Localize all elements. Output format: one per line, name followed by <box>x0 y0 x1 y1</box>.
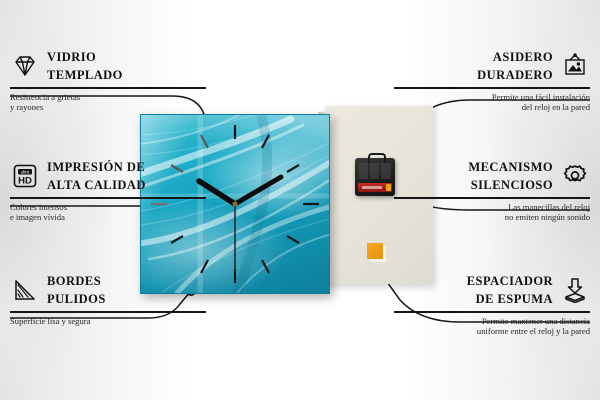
feature-title: VIDRIO TEMPLADO <box>47 48 123 84</box>
feature-description: Colores intensos e imagen vívida <box>10 202 206 223</box>
feature-rule <box>10 87 206 89</box>
svg-text:HD: HD <box>18 175 32 186</box>
feature-description: Superficie lisa y segura <box>10 316 206 327</box>
feature-description: Las manecillas del reloj no emiten ningú… <box>394 202 590 223</box>
feature-title: MECANISMO SILENCIOSO <box>468 158 553 194</box>
diamond-icon <box>10 51 40 81</box>
foam-spacer-icon <box>560 275 590 305</box>
feature-vidrio-templado: VIDRIO TEMPLADO Resistencia a grietas y … <box>10 48 206 113</box>
feature-espaciador-de-espuma: ESPACIADOR DE ESPUMA Permite mantener un… <box>394 272 590 337</box>
feature-header: BORDES PULIDOS <box>10 272 206 308</box>
feature-rule <box>394 197 590 199</box>
hands-center-cap <box>232 201 237 206</box>
battery <box>358 183 392 192</box>
feature-title: ASIDERO DURADERO <box>477 48 553 84</box>
ultra-hd-icon: ultra HD <box>10 161 40 191</box>
foam-spacer <box>367 243 383 259</box>
battery-label <box>362 186 382 189</box>
feature-rule <box>10 311 206 313</box>
feature-rule <box>394 311 590 313</box>
feature-description: Permite una fácil instalación del reloj … <box>394 92 590 113</box>
infographic-canvas: VIDRIO TEMPLADO Resistencia a grietas y … <box>0 0 600 400</box>
wall-frame-icon <box>560 51 590 81</box>
feature-header: ESPACIADOR DE ESPUMA <box>394 272 590 308</box>
mechanism-housing <box>359 163 391 179</box>
clock-mechanism <box>355 158 395 196</box>
feature-mecanismo-silencioso: MECANISMO SILENCIOSO Las manecillas del … <box>394 158 590 223</box>
svg-text:ultra: ultra <box>21 169 30 174</box>
feature-header: ultra HD IMPRESIÓN DE ALTA CALIDAD <box>10 158 206 194</box>
feature-asidero-duradero: ASIDERO DURADERO Permite una fácil insta… <box>394 48 590 113</box>
feature-header: MECANISMO SILENCIOSO <box>394 158 590 194</box>
feature-bordes-pulidos: BORDES PULIDOS Superficie lisa y segura <box>10 272 206 326</box>
feature-impresion-alta-calidad: ultra HD IMPRESIÓN DE ALTA CALIDAD Color… <box>10 158 206 223</box>
feature-title: BORDES PULIDOS <box>47 272 106 308</box>
minute-hand <box>235 177 281 204</box>
feature-header: ASIDERO DURADERO <box>394 48 590 84</box>
mechanism-hanger <box>368 153 386 163</box>
polished-edges-icon <box>10 275 40 305</box>
feature-title: IMPRESIÓN DE ALTA CALIDAD <box>47 158 146 194</box>
gear-icon <box>560 161 590 191</box>
feature-description: Permite mantener una distancia uniforme … <box>394 316 590 337</box>
feature-description: Resistencia a grietas y rayones <box>10 92 206 113</box>
feature-title: ESPACIADOR DE ESPUMA <box>467 272 553 308</box>
feature-header: VIDRIO TEMPLADO <box>10 48 206 84</box>
feature-rule <box>10 197 206 199</box>
battery-terminal <box>386 184 391 191</box>
feature-rule <box>394 87 590 89</box>
